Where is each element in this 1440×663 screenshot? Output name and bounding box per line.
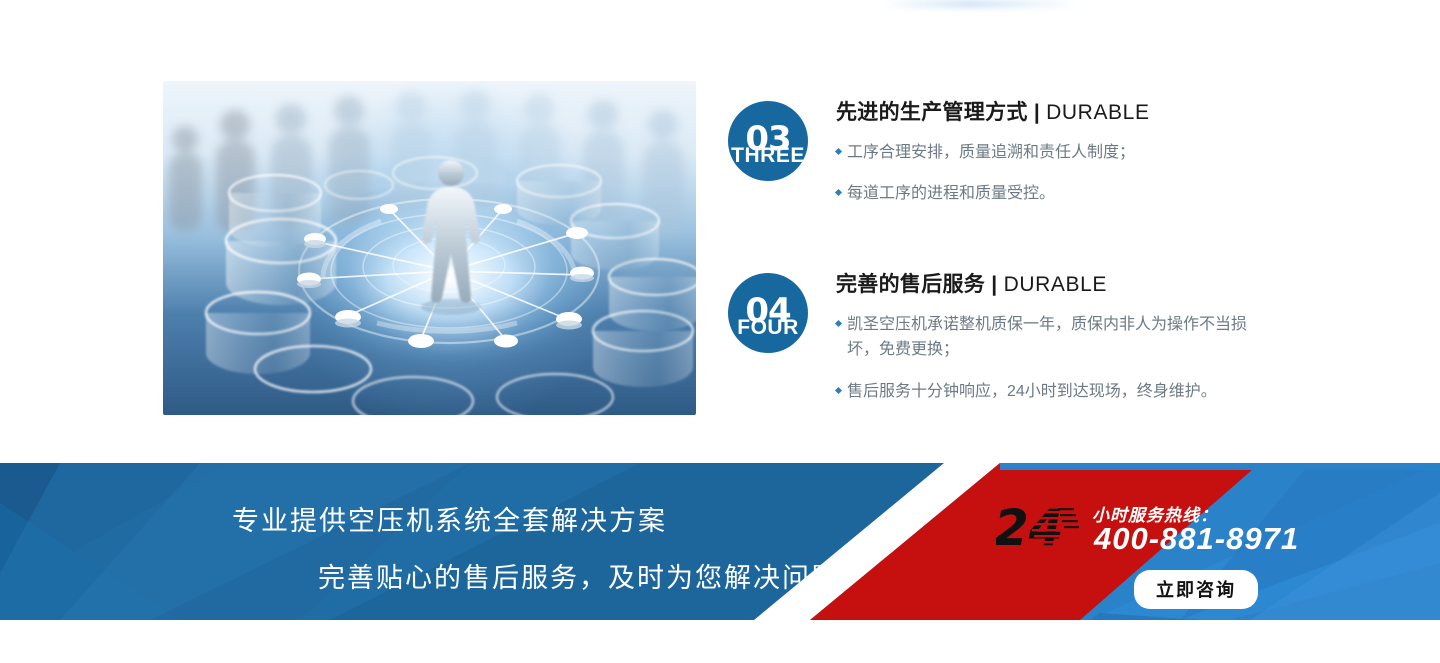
network-illustration-image: [163, 81, 696, 415]
banner-slogan-line-1: 专业提供空压机系统全套解决方案: [232, 499, 667, 538]
feature-title-en: DURABLE: [1004, 273, 1107, 296]
svg-text:24: 24: [996, 499, 1064, 551]
feature-title-sep: |: [985, 273, 1003, 296]
promo-page: 03 THREE 先进的生产管理方式 | DURABLE 工序合理安排，质量追溯…: [0, 0, 1440, 663]
cta-banner: 专业提供空压机系统全套解决方案 完善贴心的售后服务，及时为您解决问题: [0, 463, 1440, 620]
feature-block-04: 04 FOUR 完善的售后服务 | DURABLE 凯圣空压机承诺整机质保一年，…: [728, 273, 1265, 420]
feature-bullet: 工序合理安排，质量追溯和责任人制度；: [836, 140, 1150, 165]
feature-title-cn: 完善的售后服务: [836, 273, 985, 296]
feature-text-03: 先进的生产管理方式 | DURABLE 工序合理安排，质量追溯和责任人制度； 每…: [836, 101, 1150, 223]
hotline-24-badge: 24: [996, 499, 1096, 551]
feature-bullet: 每道工序的进程和质量受控。: [836, 181, 1150, 206]
consult-now-button[interactable]: 立即咨询: [1134, 570, 1258, 609]
feature-title-en: DURABLE: [1046, 101, 1149, 124]
badge-04: 04 FOUR: [728, 273, 808, 353]
feature-title-cn: 先进的生产管理方式: [836, 101, 1028, 124]
feature-title-sep: |: [1028, 101, 1046, 124]
feature-title-03: 先进的生产管理方式 | DURABLE: [836, 101, 1150, 124]
badge-word: FOUR: [737, 317, 799, 338]
top-gradient-residue: [880, 0, 1080, 8]
feature-bullet: 售后服务十分钟响应，24小时到达现场，终身维护。: [836, 379, 1265, 404]
feature-block-03: 03 THREE 先进的生产管理方式 | DURABLE 工序合理安排，质量追溯…: [728, 101, 1150, 223]
hotline-number: 400-881-8971: [1094, 521, 1299, 557]
feature-text-04: 完善的售后服务 | DURABLE 凯圣空压机承诺整机质保一年，质保内非人为操作…: [836, 273, 1265, 420]
hotline-block: 24 小时服务热线： 400-881-8971 立即咨询: [996, 499, 1296, 609]
badge-word: THREE: [731, 145, 805, 166]
badge-03: 03 THREE: [728, 101, 808, 181]
feature-title-04: 完善的售后服务 | DURABLE: [836, 273, 1265, 296]
feature-bullet: 凯圣空压机承诺整机质保一年，质保内非人为操作不当损坏，免费更换；: [836, 312, 1265, 363]
banner-slogan-line-2: 完善贴心的售后服务，及时为您解决问题: [318, 556, 840, 595]
